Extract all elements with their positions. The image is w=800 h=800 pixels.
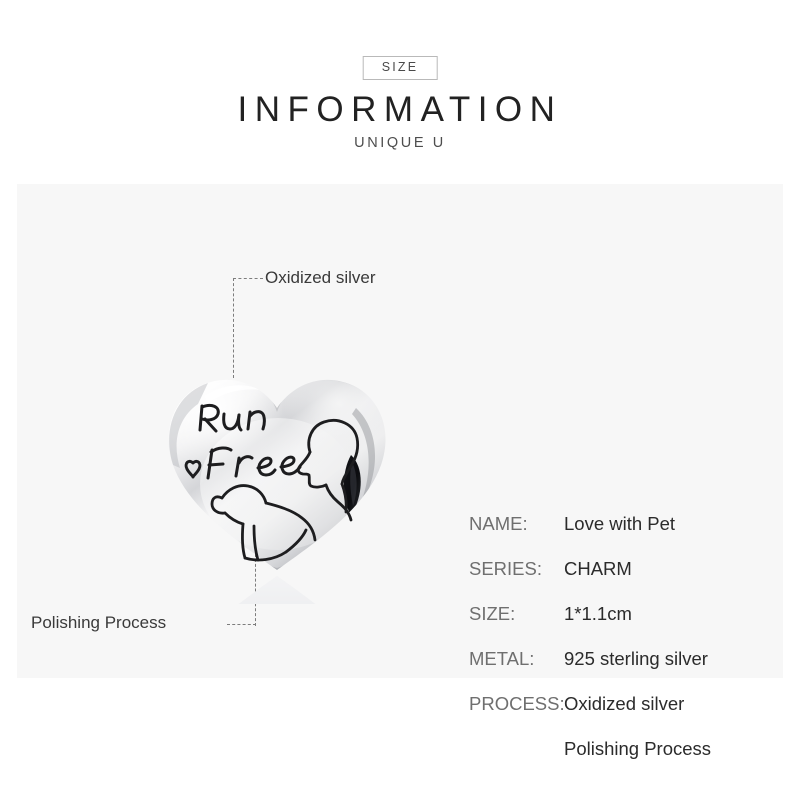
leader-line-bottom-horizontal [227,624,256,625]
spec-value-process: Oxidized silver [564,695,684,714]
spec-value-process-continued: Polishing Process [564,740,711,784]
page-header: SIZE INFORMATION UNIQUE U [0,0,800,184]
spec-row-size: SIZE: 1*1.1cm [469,605,711,650]
spec-row-metal: METAL: 925 sterling silver [469,650,711,695]
size-badge: SIZE [363,56,438,80]
information-panel: Oxidized silver Polishing Process [17,184,783,678]
spec-label-name: NAME: [469,515,564,534]
page-title: INFORMATION [0,92,800,127]
page-subtitle: UNIQUE U [0,136,800,151]
leader-line-top-horizontal [233,278,263,279]
charm-bead-illustration [142,334,412,604]
spec-row-process-continued: Polishing Process [469,740,711,784]
charm-reflection [142,572,412,604]
spec-value-series: CHARM [564,560,632,579]
spec-row-name: NAME: Love with Pet [469,515,711,560]
spec-row-process: PROCESS: Oxidized silver [469,695,711,740]
charm-body [142,334,412,604]
spec-row-series: SERIES: CHARM [469,560,711,605]
callout-oxidized-silver: Oxidized silver [265,269,376,286]
spec-value-name: Love with Pet [564,515,675,534]
spec-label-size: SIZE: [469,605,564,624]
spec-label-metal: METAL: [469,650,564,669]
spec-value-size: 1*1.1cm [564,605,632,624]
callout-polishing-process: Polishing Process [31,614,166,631]
spec-label-series: SERIES: [469,560,564,579]
specification-list: NAME: Love with Pet SERIES: CHARM SIZE: … [469,515,711,784]
spec-value-metal: 925 sterling silver [564,650,708,669]
spec-label-process: PROCESS: [469,695,564,714]
product-image [142,334,412,604]
